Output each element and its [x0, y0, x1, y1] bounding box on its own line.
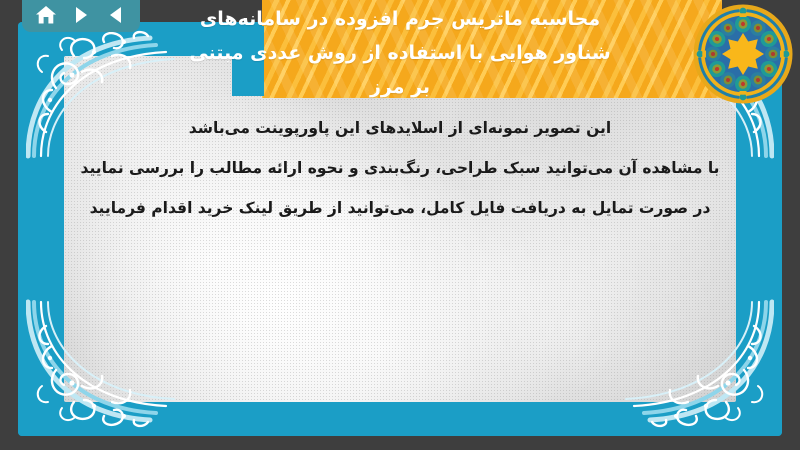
body-line-2: با مشاهده آن می‌توانید سبک طراحی، رنگ‌بن…	[60, 148, 740, 188]
left-arrow-icon	[108, 6, 124, 24]
slide-body-text: این تصویر نمونه‌ای از اسلایدهای این پاور…	[60, 108, 740, 228]
title-banner	[262, 0, 722, 98]
home-button[interactable]	[33, 3, 59, 27]
body-line-3: در صورت تمایل به دریافت فایل کامل، می‌تو…	[60, 188, 740, 228]
persian-medallion-ornament	[691, 2, 795, 106]
presentation-viewer: محاسبه ماتریس جرم افزوده در سامانه‌های ش…	[0, 0, 800, 450]
navigation-toolbar	[22, 0, 140, 32]
body-line-1: این تصویر نمونه‌ای از اسلایدهای این پاور…	[60, 108, 740, 148]
previous-slide-button[interactable]	[103, 3, 129, 27]
title-banner-accent-block	[232, 26, 264, 96]
home-icon	[35, 5, 57, 25]
right-arrow-icon	[73, 6, 89, 24]
next-slide-button[interactable]	[68, 3, 94, 27]
